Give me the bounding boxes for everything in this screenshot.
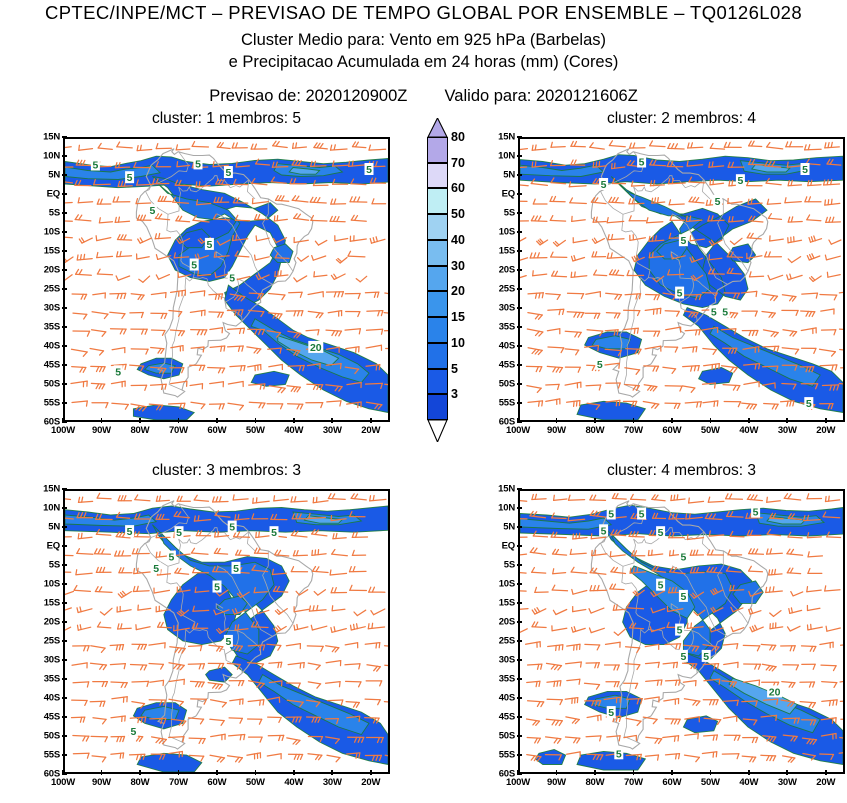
contour-label: 20 xyxy=(769,686,781,698)
wind-barb xyxy=(520,238,526,244)
wind-barb xyxy=(208,368,225,373)
wind-barb xyxy=(682,347,697,352)
wind-barb xyxy=(547,329,559,334)
wind-barb xyxy=(247,753,261,759)
wind-barb xyxy=(150,680,164,685)
wind-barb xyxy=(671,495,685,501)
y-axis-tick-label: 15S xyxy=(481,246,515,257)
wind-barb xyxy=(743,645,760,650)
y-axis-tick-mark xyxy=(517,250,522,252)
y-axis-tick-mark xyxy=(62,697,67,699)
wind-barb xyxy=(192,548,209,554)
x-axis-tick-label: 30W xyxy=(778,777,797,788)
wind-barb xyxy=(551,252,567,257)
colorbar-segment xyxy=(427,214,448,240)
wind-barb xyxy=(592,252,606,257)
colorbar-segment xyxy=(427,394,448,420)
wind-barb xyxy=(356,276,367,282)
wind-barb xyxy=(570,549,586,554)
wind-barb xyxy=(169,663,184,670)
wind-barb xyxy=(131,349,148,354)
x-axis-tick-label: 100W xyxy=(506,777,530,788)
wind-barb xyxy=(546,737,561,743)
wind-barb xyxy=(315,240,326,245)
y-axis-tick-mark xyxy=(62,212,67,214)
x-axis-tick-label: 30W xyxy=(778,425,797,436)
wind-barb xyxy=(841,719,843,724)
y-axis-tick-mark xyxy=(517,136,522,138)
wind-barb xyxy=(112,381,126,387)
wind-barb xyxy=(158,196,171,201)
wind-barb xyxy=(567,679,580,684)
wind-barb xyxy=(826,217,841,222)
wind-barb xyxy=(228,756,243,763)
colorbar-tick-label: 60 xyxy=(451,181,465,195)
wind-barb xyxy=(547,699,562,704)
wind-barb xyxy=(822,330,836,335)
wind-barb xyxy=(307,646,323,651)
wind-barb xyxy=(110,645,123,650)
y-axis-tick-label: 55S xyxy=(26,750,60,761)
wind-barb xyxy=(742,331,758,336)
wind-barb xyxy=(573,238,587,243)
wind-barb xyxy=(370,496,386,501)
y-axis-tick-mark xyxy=(517,326,522,328)
wind-barb xyxy=(606,682,619,687)
wind-barb xyxy=(565,698,578,704)
wind-barb xyxy=(73,736,89,742)
wind-barb xyxy=(768,275,783,280)
wind-barb xyxy=(743,738,758,743)
contour-label: 5 xyxy=(806,398,812,410)
wind-barb xyxy=(115,217,129,222)
y-axis-tick-mark xyxy=(517,231,522,233)
y-axis-tick-mark xyxy=(62,640,67,642)
y-axis-tick-label: 50S xyxy=(481,731,515,742)
wind-barb xyxy=(643,402,659,409)
map-panel-cluster-3[interactable]: 5555555555 xyxy=(63,489,390,774)
x-axis-tick-mark xyxy=(255,770,257,775)
map-graphic: 55555555555 xyxy=(520,139,843,420)
y-axis-tick-mark xyxy=(62,621,67,623)
y-axis-tick-label: 30S xyxy=(26,303,60,314)
contour-label: 5 xyxy=(225,636,231,648)
wind-barb xyxy=(115,551,131,556)
wind-barb xyxy=(91,646,105,653)
wind-barb xyxy=(269,365,283,370)
wind-barb xyxy=(331,145,348,150)
x-axis-tick-mark xyxy=(594,418,596,423)
forecast-valid-label: Valido para: 2020121606Z xyxy=(445,87,638,106)
wind-barb xyxy=(728,199,742,204)
wind-barb xyxy=(800,682,815,687)
wind-barb xyxy=(314,272,327,277)
wind-barb xyxy=(118,624,132,629)
wind-barb xyxy=(77,607,92,613)
contour-label: 5 xyxy=(658,527,664,539)
x-axis-tick-label: 70W xyxy=(169,425,188,436)
wind-barb xyxy=(309,606,326,612)
wind-barb xyxy=(79,497,93,502)
x-axis-tick-mark xyxy=(594,770,596,775)
wind-barb xyxy=(91,663,107,669)
wind-barb xyxy=(291,497,307,502)
x-axis-tick-mark xyxy=(101,770,103,775)
wind-barb xyxy=(350,567,367,572)
y-axis-tick-mark xyxy=(62,402,67,404)
y-axis-tick-mark xyxy=(62,659,67,661)
wind-barb xyxy=(704,735,718,740)
contour-label: 5 xyxy=(677,288,683,300)
wind-barb xyxy=(548,309,564,314)
wind-barb xyxy=(663,662,677,667)
wind-barb xyxy=(702,752,716,758)
wind-barb xyxy=(110,312,125,318)
wind-barb xyxy=(72,663,87,668)
wind-barb xyxy=(533,199,547,204)
y-axis-tick-mark xyxy=(517,155,522,157)
wind-barb xyxy=(137,254,150,259)
wind-barb xyxy=(308,663,320,670)
colorbar-tick-label: 40 xyxy=(451,233,465,247)
y-axis-tick-mark xyxy=(517,364,522,366)
wind-barb xyxy=(606,642,621,647)
wind-barb xyxy=(175,568,189,574)
wind-barb xyxy=(553,549,567,555)
contour-label: 5 xyxy=(176,527,182,539)
wind-barb xyxy=(791,592,803,596)
wind-barb xyxy=(585,313,600,318)
wind-barb xyxy=(366,345,381,350)
contour-label: 5 xyxy=(130,726,136,738)
wind-barb xyxy=(822,700,837,706)
wind-barb xyxy=(802,293,818,298)
wind-barb xyxy=(352,532,367,537)
wind-barb xyxy=(350,236,366,242)
y-axis-tick-mark xyxy=(62,231,67,233)
wind-barb xyxy=(646,680,662,685)
wind-barb xyxy=(630,235,646,241)
y-axis-tick-label: 50S xyxy=(26,379,60,390)
wind-barb xyxy=(255,255,270,260)
wind-barb xyxy=(131,294,144,300)
wind-barb xyxy=(176,216,190,222)
wind-barb xyxy=(644,385,657,391)
contour-label: 5 xyxy=(680,235,686,247)
wind-barb xyxy=(528,313,542,320)
wind-barb xyxy=(133,586,149,591)
y-axis-tick-mark xyxy=(517,507,522,509)
wind-barb xyxy=(152,737,167,744)
y-axis-tick-label: 50S xyxy=(481,379,515,390)
wind-barb xyxy=(520,550,527,555)
contour-label: 5 xyxy=(608,707,614,719)
wind-barb xyxy=(331,274,345,279)
wind-barb xyxy=(822,682,837,688)
x-axis-tick-label: 40W xyxy=(739,777,758,788)
y-axis-tick-label: 5N xyxy=(26,170,60,181)
wind-barb xyxy=(288,663,304,669)
x-axis-tick-mark xyxy=(139,418,141,423)
x-axis-tick-mark xyxy=(293,770,295,775)
wind-barb xyxy=(248,700,264,705)
colorbar-segment xyxy=(427,369,448,395)
wind-barb xyxy=(328,311,341,317)
wind-barb xyxy=(208,683,222,689)
x-axis-tick-label: 100W xyxy=(506,425,530,436)
wind-barb xyxy=(840,350,843,356)
wind-barb xyxy=(267,754,281,759)
x-axis-tick-label: 40W xyxy=(284,777,303,788)
wind-barb xyxy=(308,682,320,688)
wind-barb xyxy=(111,753,124,758)
wind-barb xyxy=(152,330,166,335)
wind-barb xyxy=(750,272,764,277)
wind-barb xyxy=(138,238,152,243)
wind-barb xyxy=(572,590,587,595)
contour-label: 5 xyxy=(271,527,277,539)
wind-barb xyxy=(761,755,776,760)
wind-barb xyxy=(65,275,72,281)
subtitle-line-2: e Precipitacao Acumulada em 24 horas (mm… xyxy=(0,53,847,72)
wind-barb xyxy=(645,308,661,314)
y-axis-tick-mark xyxy=(62,326,67,328)
wind-barb xyxy=(79,145,93,150)
map-panel-cluster-1[interactable]: 555555555520 xyxy=(63,137,390,422)
wind-barb xyxy=(841,367,843,373)
wind-barb xyxy=(314,590,325,595)
y-axis-tick-mark xyxy=(62,307,67,309)
wind-barb xyxy=(788,626,801,631)
wind-barb xyxy=(386,349,388,354)
wind-barb xyxy=(154,588,169,593)
y-axis-tick-mark xyxy=(517,174,522,176)
wind-barb xyxy=(345,294,360,299)
wind-barb xyxy=(820,642,833,647)
wind-barb xyxy=(666,327,681,332)
y-axis-tick-label: 20S xyxy=(26,617,60,628)
x-axis-tick-mark xyxy=(786,418,788,423)
wind-barb xyxy=(644,366,659,371)
wind-barb xyxy=(784,494,800,500)
wind-barb xyxy=(289,754,303,759)
wind-barb xyxy=(274,496,289,501)
panel-title-cluster-2: cluster: 2 membros: 4 xyxy=(518,110,845,128)
wind-barb xyxy=(228,382,243,387)
x-axis-tick-mark xyxy=(178,770,180,775)
wind-barb xyxy=(532,494,546,499)
wind-barb xyxy=(663,367,676,373)
wind-barb xyxy=(782,348,798,354)
wind-barb xyxy=(351,215,366,221)
wind-barb xyxy=(782,295,796,301)
wind-barb xyxy=(294,276,307,282)
panel-title-cluster-1: cluster: 1 membros: 5 xyxy=(63,110,390,128)
wind-barb xyxy=(685,755,700,762)
y-axis-tick-mark xyxy=(517,212,522,214)
y-axis-tick-label: 10S xyxy=(26,579,60,590)
wind-barb xyxy=(65,232,72,238)
wind-barb xyxy=(625,368,640,375)
wind-barb xyxy=(566,717,579,724)
wind-barb xyxy=(612,494,626,500)
wind-barb xyxy=(74,586,90,592)
wind-barb xyxy=(742,756,756,762)
wind-barb xyxy=(788,217,802,222)
x-axis-tick-mark xyxy=(216,418,218,423)
wind-barb xyxy=(825,586,840,591)
wind-barb xyxy=(92,312,108,319)
wind-barb xyxy=(331,588,346,593)
wind-barb xyxy=(293,551,307,556)
wind-barb xyxy=(72,349,88,356)
wind-barb xyxy=(724,662,738,667)
y-axis-tick-label: 40S xyxy=(26,693,60,704)
x-axis-tick-mark xyxy=(825,770,827,775)
wind-barb xyxy=(587,715,601,721)
wind-barb xyxy=(65,144,71,149)
contour-label: 5 xyxy=(92,160,98,172)
wind-barb xyxy=(351,624,366,630)
wind-barb xyxy=(520,629,527,635)
wind-barb xyxy=(336,258,347,264)
wind-barb xyxy=(708,497,724,502)
wind-barb xyxy=(151,313,167,318)
wind-barb xyxy=(840,680,843,685)
wind-barb xyxy=(689,498,704,503)
wind-barb xyxy=(78,198,92,203)
panel-3-canvas: 5555555555 xyxy=(65,491,388,772)
x-axis-tick-mark xyxy=(556,418,558,423)
wind-barb xyxy=(585,683,600,689)
y-axis-tick-mark xyxy=(62,754,67,756)
x-axis-tick-label: 50W xyxy=(701,777,720,788)
y-axis-tick-mark xyxy=(62,678,67,680)
y-axis-tick-mark xyxy=(62,155,67,157)
wind-barb xyxy=(590,143,605,149)
y-axis-tick-mark xyxy=(517,754,522,756)
wind-barb xyxy=(594,270,607,276)
wind-barb xyxy=(117,252,132,257)
wind-barb xyxy=(527,366,542,371)
wind-barb xyxy=(72,717,85,722)
wind-barb xyxy=(573,607,586,612)
wind-barb xyxy=(650,141,665,147)
y-axis-tick-mark xyxy=(517,269,522,271)
colorbar-tick-label: 5 xyxy=(451,362,458,376)
wind-barb xyxy=(253,199,269,204)
wind-barb xyxy=(367,665,380,671)
colorbar-tick-label: 10 xyxy=(451,336,465,350)
x-axis-tick-mark xyxy=(216,770,218,775)
x-axis-tick-mark xyxy=(710,418,712,423)
y-axis-tick-label: 55S xyxy=(481,750,515,761)
map-panel-cluster-4[interactable]: 555555555552055 xyxy=(518,489,845,774)
wind-barb xyxy=(136,625,150,630)
wind-barb xyxy=(77,254,92,260)
x-axis-tick-label: 20W xyxy=(816,425,835,436)
y-axis-tick-label: EQ xyxy=(481,541,515,552)
wind-barb xyxy=(210,755,224,762)
wind-barb xyxy=(606,293,622,299)
x-axis-tick-mark xyxy=(331,418,333,423)
wind-barb xyxy=(72,700,87,705)
wind-barb xyxy=(191,699,207,704)
panel-4-canvas: 555555555552055 xyxy=(520,491,843,772)
x-axis-tick-mark xyxy=(710,770,712,775)
y-axis-tick-label: 40S xyxy=(26,341,60,352)
wind-barb xyxy=(190,291,204,296)
wind-barb xyxy=(273,141,288,147)
wind-barb xyxy=(789,608,802,614)
wind-barb xyxy=(229,735,245,740)
wind-barb xyxy=(572,216,586,221)
wind-barb xyxy=(269,294,285,300)
y-axis-tick-mark xyxy=(517,716,522,718)
x-axis-tick-label: 40W xyxy=(739,425,758,436)
wind-barb xyxy=(683,681,696,686)
wind-barb xyxy=(547,681,561,687)
wind-barb xyxy=(156,144,171,149)
wind-barb xyxy=(371,609,385,615)
y-axis-tick-label: EQ xyxy=(481,189,515,200)
wind-barb xyxy=(610,552,625,557)
y-axis-tick-label: 5S xyxy=(26,208,60,219)
wind-barb xyxy=(366,681,382,686)
wind-barb xyxy=(703,700,718,705)
wind-barb xyxy=(345,643,358,648)
wind-barb xyxy=(65,627,71,633)
wind-barb xyxy=(135,495,150,501)
wind-barb xyxy=(802,664,815,669)
x-axis-tick-label: 40W xyxy=(284,425,303,436)
wind-barb xyxy=(210,404,225,409)
x-axis-tick-label: 50W xyxy=(701,425,720,436)
wind-barb xyxy=(354,610,366,615)
wind-barb xyxy=(191,681,205,687)
wind-barb xyxy=(749,549,764,555)
wind-barb xyxy=(749,141,762,146)
wind-barb xyxy=(228,346,244,351)
wind-barb xyxy=(131,665,147,671)
wind-barb xyxy=(308,311,323,317)
wind-barb xyxy=(567,401,580,407)
wind-barb xyxy=(208,663,223,668)
y-axis-tick-mark xyxy=(517,697,522,699)
wind-barb xyxy=(744,664,761,669)
wind-barb xyxy=(532,145,546,150)
y-axis-tick-mark xyxy=(517,383,522,385)
x-axis-tick-label: 80W xyxy=(130,425,149,436)
wind-barb xyxy=(666,754,680,759)
x-axis-tick-label: 100W xyxy=(51,425,75,436)
wind-barb xyxy=(384,313,388,319)
wind-barb xyxy=(646,295,660,300)
wind-barb xyxy=(99,218,112,223)
colorbar-segment xyxy=(427,137,448,163)
wind-barb xyxy=(119,568,132,573)
colorbar-segment xyxy=(427,163,448,189)
wind-barb xyxy=(571,141,585,146)
wind-barb xyxy=(138,605,151,610)
wind-barb xyxy=(550,197,565,202)
y-axis-tick-mark xyxy=(517,678,522,680)
wind-barb xyxy=(95,549,111,555)
wind-barb xyxy=(276,196,289,202)
wind-barb xyxy=(111,329,127,334)
map-panel-cluster-2[interactable]: 55555555555 xyxy=(518,137,845,422)
wind-barb xyxy=(761,644,775,650)
